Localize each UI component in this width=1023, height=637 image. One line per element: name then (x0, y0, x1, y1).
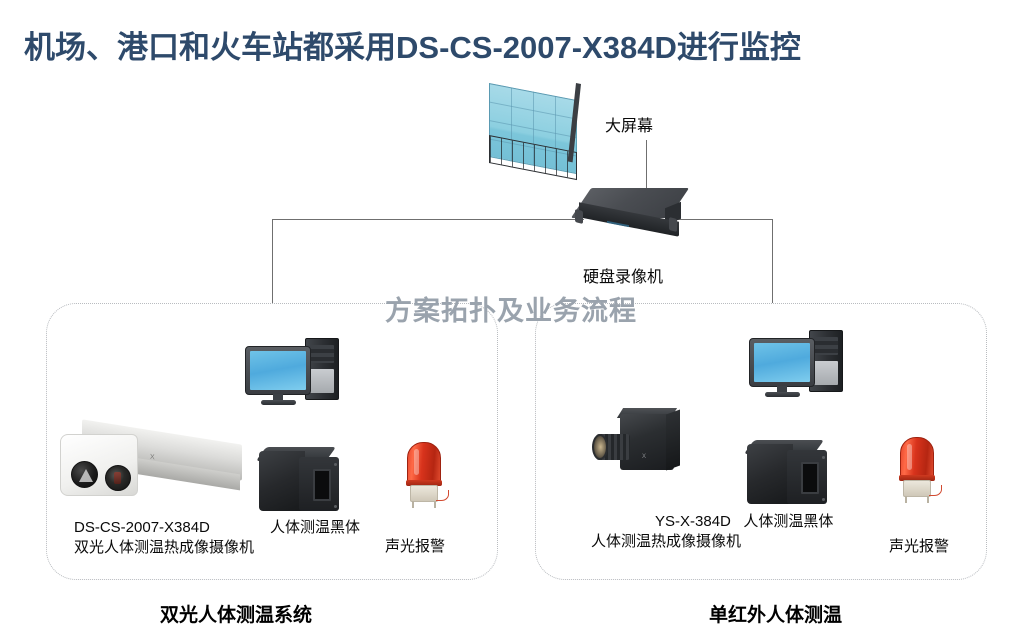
camera-front-face (60, 434, 138, 496)
thermal-lens-icon (71, 461, 98, 488)
camera-brand-mark: X (150, 454, 155, 462)
page-title: 机场、港口和火车站都采用DS-CS-2007-X384D进行监控 (24, 22, 801, 67)
nvr-rack-icon[interactable] (573, 188, 686, 244)
left-beacon-label: 声光报警 (385, 537, 445, 557)
monitor-screen (250, 351, 306, 390)
blackbody-cavity (801, 462, 819, 494)
blackbody-cavity (313, 469, 331, 501)
beacon-base (410, 485, 438, 502)
connector-nvr-left-horizontal (272, 219, 584, 220)
beacon-dome (407, 442, 441, 484)
blackbody-calibrator-icon[interactable] (745, 440, 833, 510)
left-camera-label: DS-CS-2007-X384D 双光人体测温热成像摄像机 (74, 518, 254, 558)
desktop-computer-icon[interactable] (749, 330, 843, 398)
left-blackbody-label: 人体测温黑体 (270, 518, 360, 538)
blackbody-screw (334, 505, 337, 508)
beacon-base (903, 480, 931, 497)
alarm-beacon-icon[interactable] (896, 437, 940, 505)
watermark-text: 方案拓扑及业务流程 (385, 289, 637, 328)
monitor-bezel (749, 338, 815, 387)
monitor-bezel (245, 346, 311, 395)
ircam-front-lens (592, 434, 608, 460)
beacon-feet (905, 496, 929, 503)
nvr-label: 硬盘录像机 (583, 263, 663, 287)
monitor-screen (754, 343, 810, 382)
blackbody-calibrator-icon[interactable] (257, 447, 345, 517)
beacon-feet (412, 501, 436, 508)
blackbody-screw (822, 498, 825, 501)
right-camera-description: 人体测温热成像摄像机 (591, 532, 741, 552)
big-screen-label: 大屏幕 (605, 112, 653, 136)
alarm-beacon-icon[interactable] (403, 442, 447, 510)
ir-thermal-camera-icon[interactable]: X (592, 404, 696, 484)
left-camera-description: 双光人体测温热成像摄像机 (74, 538, 254, 558)
right-blackbody-label: 人体测温黑体 (743, 513, 833, 530)
dual-lens-thermal-camera-icon[interactable]: X (60, 418, 245, 498)
connector-nvr-right-vertical (772, 219, 773, 312)
desktop-computer-icon[interactable] (245, 338, 339, 406)
beacon-dome (900, 437, 934, 479)
right-beacon-label: 声光报警 (889, 537, 949, 557)
visible-lens-icon (105, 465, 131, 491)
right-camera-model: YS-X-384D (655, 513, 731, 530)
nvr-left-ear (575, 209, 583, 224)
blackbody-screw (822, 456, 825, 459)
video-wall-icon[interactable] (489, 83, 581, 161)
connector-nvr-left-vertical (272, 219, 273, 312)
ircam-side-face (666, 409, 680, 470)
connector-nvr-right-horizontal (676, 219, 772, 220)
caption-dual-light: 双光人体测温系统 (160, 600, 312, 627)
left-camera-model: DS-CS-2007-X384D (74, 518, 254, 538)
monitor-foot (765, 392, 800, 397)
ircam-brand-mark: X (642, 454, 646, 460)
caption-single-ir: 单红外人体测温 (709, 600, 842, 627)
monitor-foot (261, 400, 296, 405)
nvr-right-ear (669, 217, 677, 232)
right-camera-model-and-blackbody-label: YS-X-384D 人体测温黑体 (655, 512, 833, 532)
blackbody-screw (334, 463, 337, 466)
